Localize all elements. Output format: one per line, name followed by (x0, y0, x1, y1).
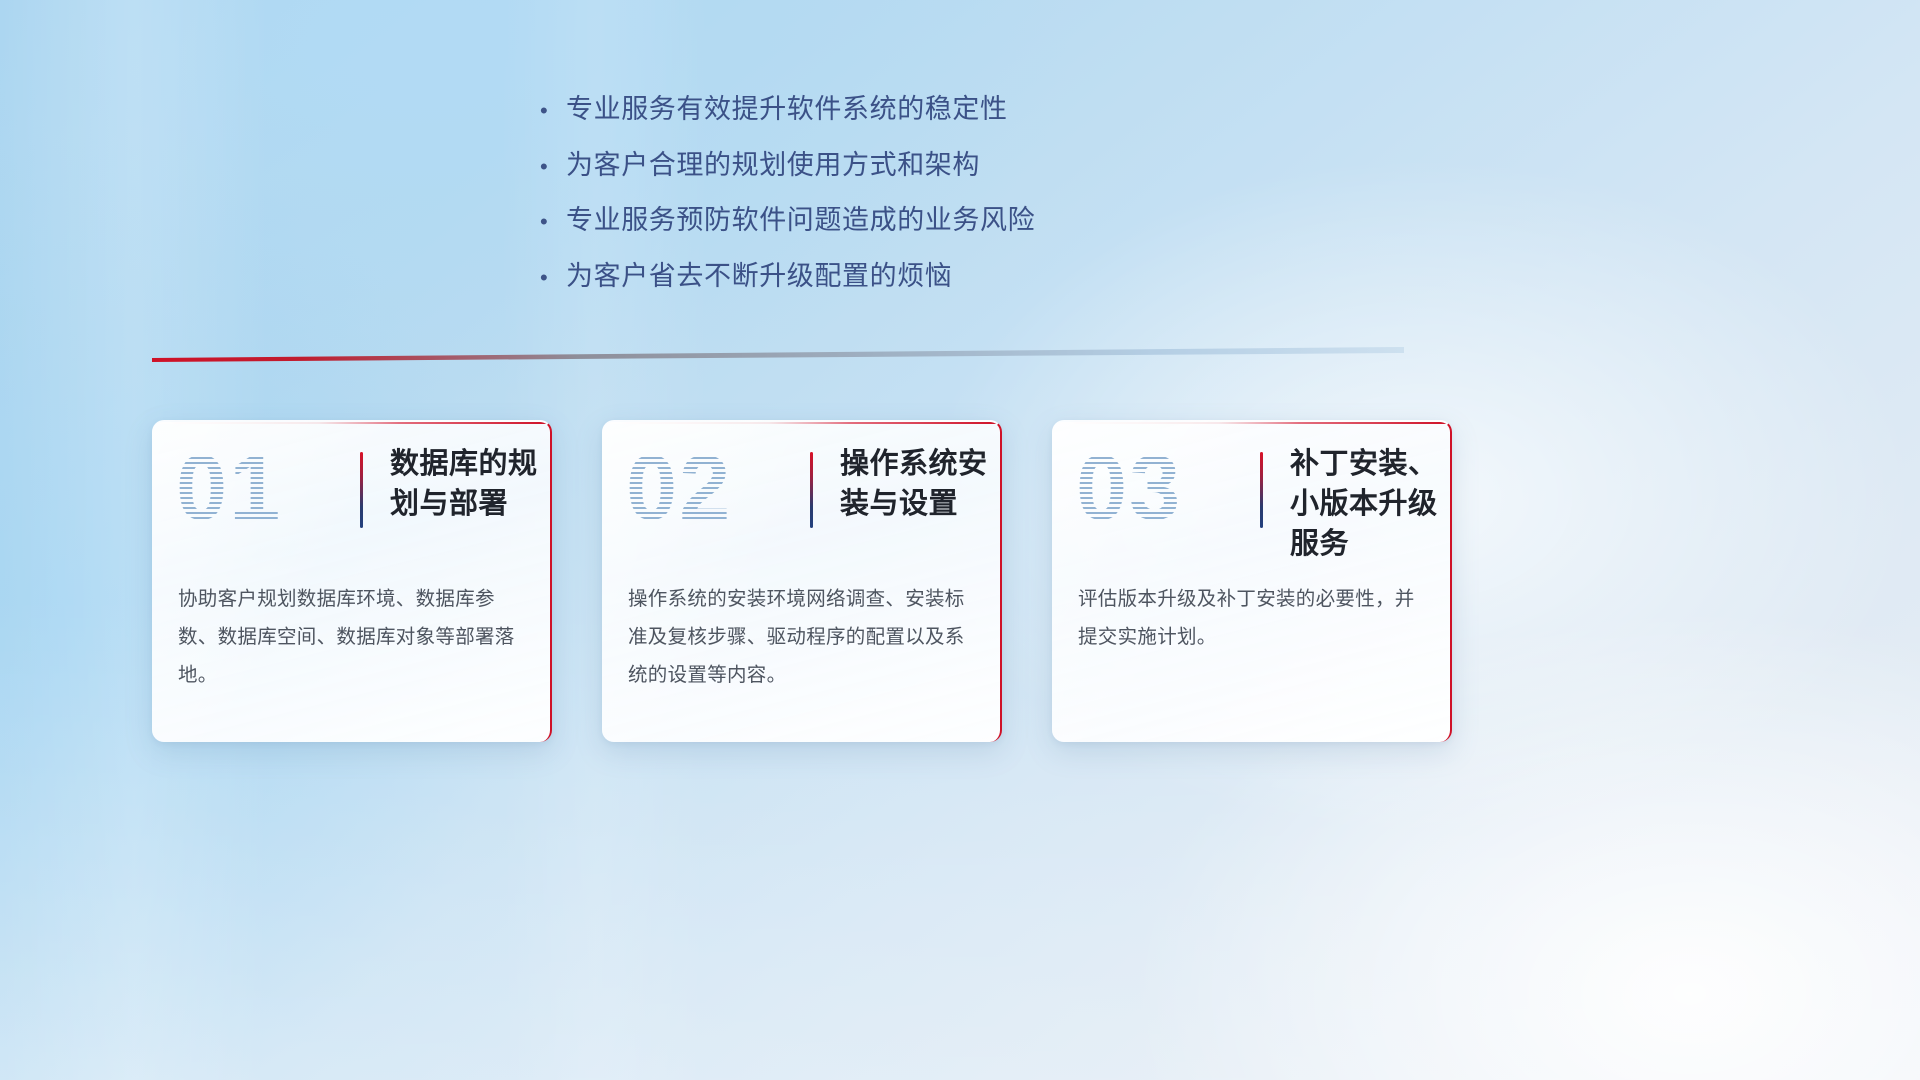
card-body-text: 评估版本升级及补丁安装的必要性，并提交实施计划。 (1078, 580, 1426, 656)
list-item: • 为客户省去不断升级配置的烦恼 (540, 259, 1180, 295)
list-item: • 为客户合理的规划使用方式和架构 (540, 148, 1180, 184)
bullet-dot-icon: • (540, 267, 566, 289)
bullet-text: 为客户合理的规划使用方式和架构 (566, 148, 980, 184)
benefits-bullet-list: • 专业服务有效提升软件系统的稳定性 • 为客户合理的规划使用方式和架构 • 专… (540, 92, 1180, 315)
service-card[interactable]: 03 补丁安装、小版本升级服务 评估版本升级及补丁安装的必要性，并提交实施计划。 (1052, 420, 1452, 742)
card-number-watermark: 01 (176, 442, 282, 534)
card-header-divider (1260, 452, 1263, 528)
bullet-text: 专业服务有效提升软件系统的稳定性 (566, 92, 1008, 128)
bullet-dot-icon: • (540, 100, 566, 122)
bullet-dot-icon: • (540, 156, 566, 178)
section-divider (152, 347, 1404, 363)
card-header: 01 数据库的规划与部署 (152, 422, 550, 568)
bullet-text: 为客户省去不断升级配置的烦恼 (566, 259, 952, 295)
card-title: 补丁安装、小版本升级服务 (1290, 444, 1440, 564)
service-card[interactable]: 01 数据库的规划与部署 协助客户规划数据库环境、数据库参数、数据库空间、数据库… (152, 420, 552, 742)
bullet-dot-icon: • (540, 211, 566, 233)
list-item: • 专业服务有效提升软件系统的稳定性 (540, 92, 1180, 128)
bullet-text: 专业服务预防软件问题造成的业务风险 (566, 203, 1035, 239)
card-header-divider (810, 452, 813, 528)
card-header: 02 操作系统安装与设置 (602, 422, 1000, 568)
card-body-text: 协助客户规划数据库环境、数据库参数、数据库空间、数据库对象等部署落地。 (178, 580, 526, 694)
card-title: 操作系统安装与设置 (840, 444, 990, 524)
list-item: • 专业服务预防软件问题造成的业务风险 (540, 203, 1180, 239)
card-header-divider (360, 452, 363, 528)
service-card[interactable]: 02 操作系统安装与设置 操作系统的安装环境网络调查、安装标准及复核步骤、驱动程… (602, 420, 1002, 742)
card-number-watermark: 02 (626, 442, 732, 534)
card-number-watermark: 03 (1076, 442, 1182, 534)
card-title: 数据库的规划与部署 (390, 444, 540, 524)
card-header: 03 补丁安装、小版本升级服务 (1052, 422, 1450, 568)
service-card-group: 01 数据库的规划与部署 协助客户规划数据库环境、数据库参数、数据库空间、数据库… (152, 420, 1452, 745)
card-body-text: 操作系统的安装环境网络调查、安装标准及复核步骤、驱动程序的配置以及系统的设置等内… (628, 580, 976, 694)
slide-canvas: • 专业服务有效提升软件系统的稳定性 • 为客户合理的规划使用方式和架构 • 专… (0, 0, 1920, 1080)
